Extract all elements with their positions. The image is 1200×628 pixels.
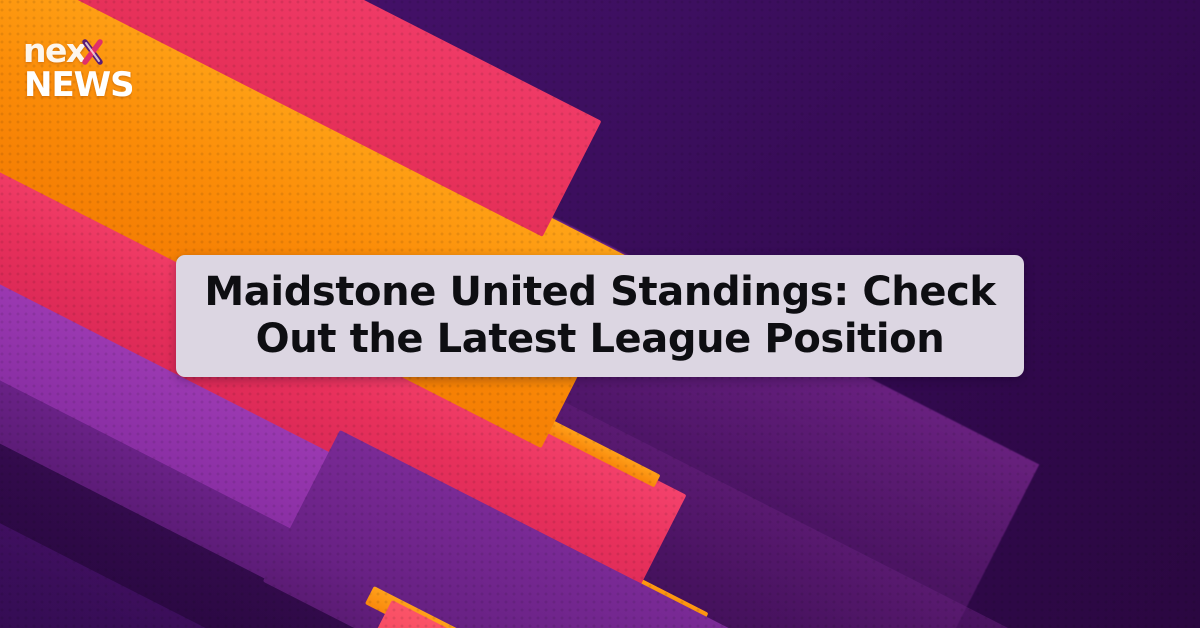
nex-news-logo[interactable]: nex NEWS [22,32,132,106]
svg-text:NEWS: NEWS [24,65,132,105]
headline-card: Maidstone United Standings: Check Out th… [176,255,1024,377]
headline-title: Maidstone United Standings: Check Out th… [198,269,1002,363]
news-banner: nex NEWS Maidstone United Standings: Che… [0,0,1200,628]
